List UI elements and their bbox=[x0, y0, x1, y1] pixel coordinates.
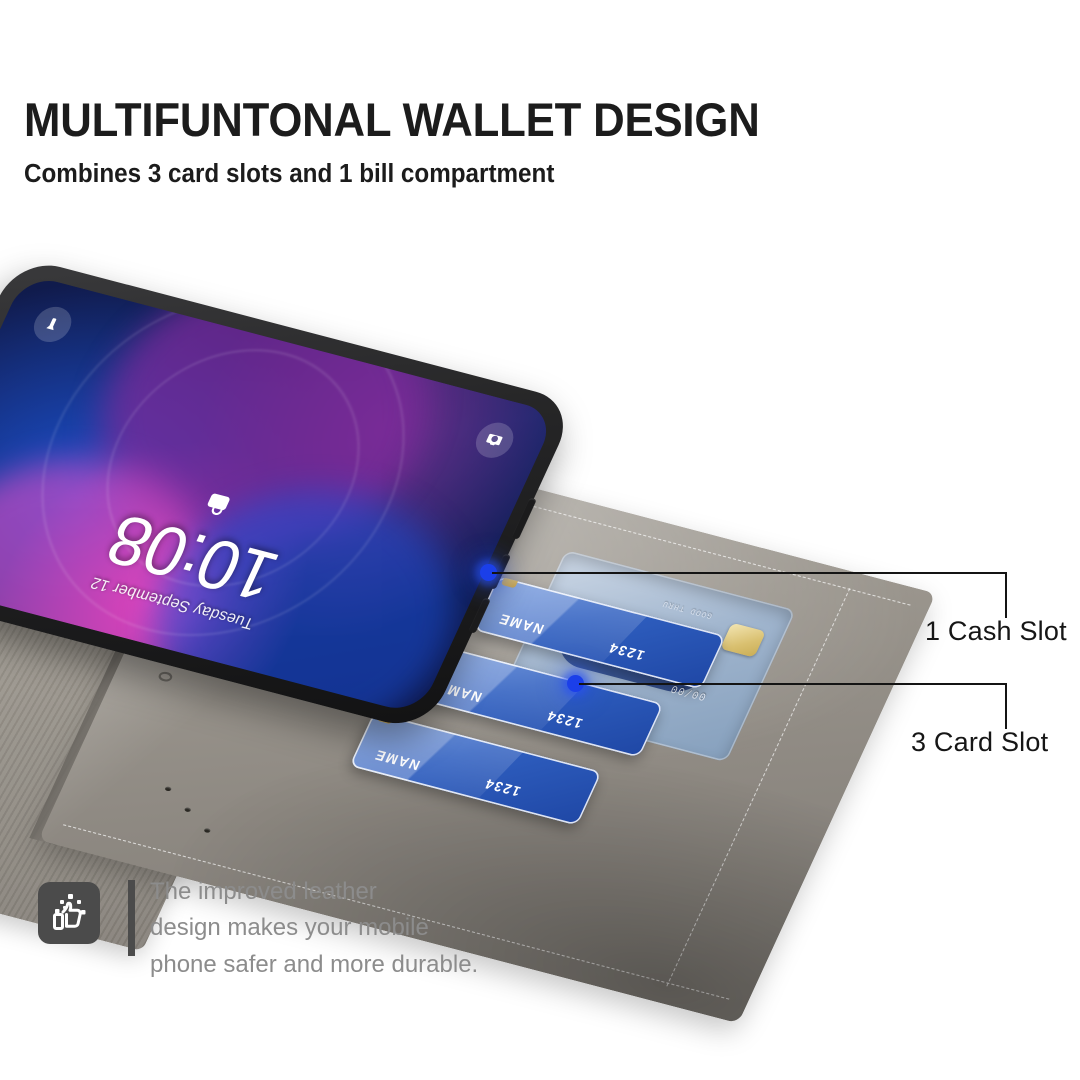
camera-icon[interactable] bbox=[470, 419, 520, 462]
punch-hole bbox=[184, 807, 192, 813]
card-slot-line-v bbox=[1005, 683, 1007, 729]
slot-card-number: 1234 bbox=[481, 776, 523, 800]
product-photo: 1234 5678 1234 00/00 GOOD THRU CARDHOLDE… bbox=[0, 250, 1080, 850]
slot-card-number: 1234 bbox=[605, 640, 647, 664]
page-subtitle: Combines 3 card slots and 1 bill compart… bbox=[24, 160, 974, 189]
feature-description: The improved leather design makes your m… bbox=[150, 874, 620, 983]
padlock-icon bbox=[202, 492, 233, 517]
punch-hole bbox=[157, 670, 174, 682]
page-title: MULTIFUNTONAL WALLET DESIGN bbox=[24, 96, 954, 143]
slot-card-name: NAME bbox=[495, 611, 546, 638]
feature-line: phone safer and more durable. bbox=[150, 947, 620, 983]
slot-card-number: 1234 bbox=[543, 708, 585, 732]
cash-slot-line-v bbox=[1005, 572, 1007, 618]
card-expiry-label: GOOD THRU bbox=[661, 598, 714, 619]
callout-label-cash: 1 Cash Slot bbox=[925, 616, 1067, 647]
feature-block: The improved leather design makes your m… bbox=[38, 880, 638, 990]
gold-chip-icon bbox=[720, 623, 766, 658]
feature-divider bbox=[128, 880, 135, 956]
feature-line: design makes your mobile bbox=[150, 910, 620, 946]
punch-hole bbox=[164, 786, 172, 792]
callout-label-card: 3 Card Slot bbox=[911, 727, 1048, 758]
cash-slot-line-h bbox=[492, 572, 1006, 574]
slot-card-name: NAME bbox=[371, 747, 422, 774]
flashlight-icon[interactable] bbox=[28, 303, 78, 346]
thumbs-up-sparkle-icon bbox=[38, 882, 100, 944]
header-block: MULTIFUNTONAL WALLET DESIGN Combines 3 c… bbox=[24, 96, 1024, 189]
card-slot-line-h bbox=[579, 683, 1006, 685]
punch-hole bbox=[203, 828, 211, 834]
feature-line: The improved leather bbox=[150, 874, 620, 910]
